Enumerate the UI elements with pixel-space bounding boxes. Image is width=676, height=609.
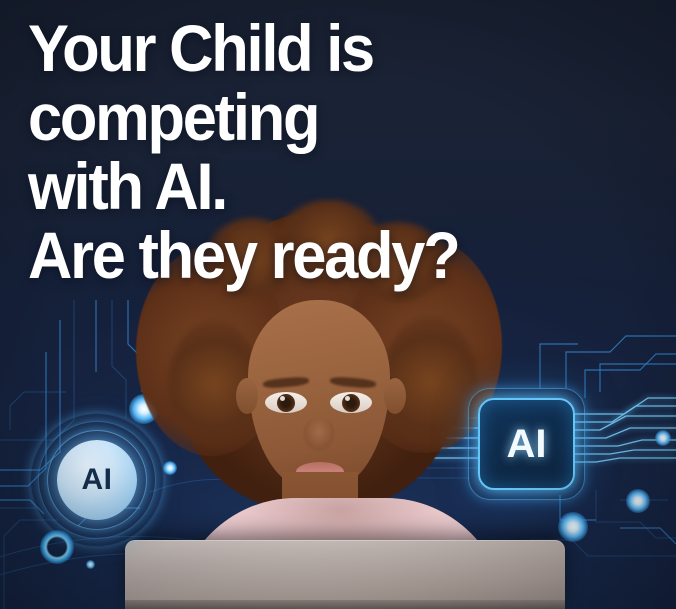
ai-awareness-poster: AI AI Your Child is competing with AI. A… <box>0 0 676 609</box>
headline-line-1: Your Child is <box>28 14 631 83</box>
headline-line-3: with AI. <box>28 152 631 221</box>
headline: Your Child is competing with AI. Are the… <box>28 14 676 290</box>
headline-line-2: competing <box>28 83 631 152</box>
headline-line-4: Are they ready? <box>28 221 631 290</box>
